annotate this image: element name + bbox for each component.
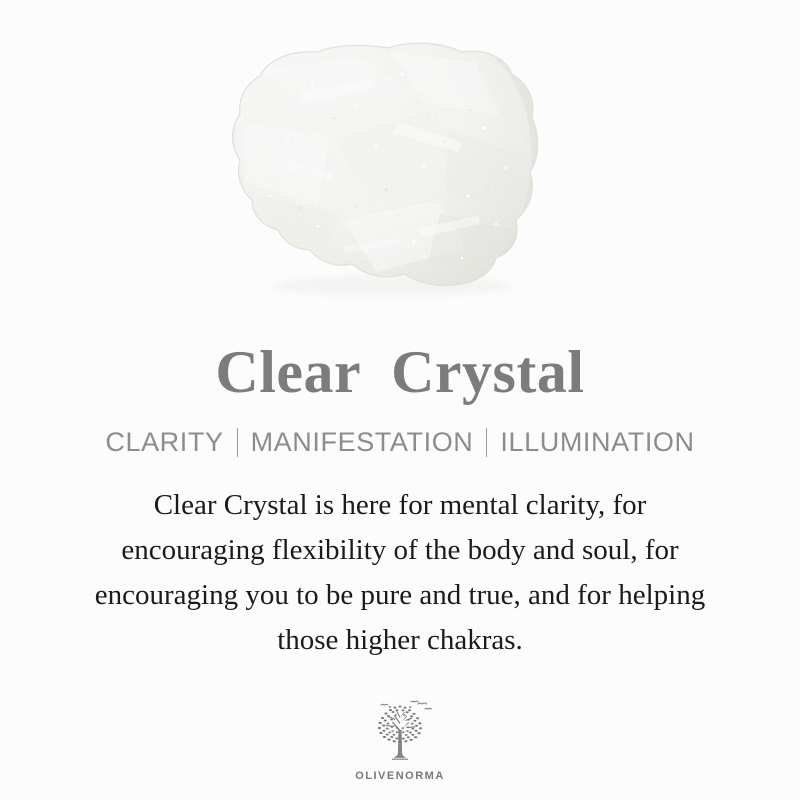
crystal-body: [230, 35, 550, 300]
brand-logo: OLIVENORMA: [0, 700, 800, 782]
description-line: encouraging flexibility of the body and …: [40, 528, 760, 573]
product-image-container: [0, 0, 800, 320]
keyword-clarity: CLARITY: [105, 429, 223, 456]
brand-name: OLIVENORMA: [355, 771, 445, 782]
page-title: Clear Crystal: [215, 342, 584, 402]
keyword-separator-icon: [486, 428, 487, 457]
keyword-manifestation: MANIFESTATION: [251, 429, 474, 456]
description-line: those higher chakras.: [40, 618, 760, 663]
description-line: Clear Crystal is here for mental clarity…: [40, 483, 760, 528]
product-description: Clear Crystal is here for mental clarity…: [40, 483, 760, 663]
clear-crystal-image: [0, 0, 800, 320]
keyword-list: CLARITY MANIFESTATION ILLUMINATION: [105, 428, 694, 457]
product-info-card: Clear Crystal CLARITY MANIFESTATION ILLU…: [0, 0, 800, 800]
keyword-separator-icon: [237, 428, 238, 457]
keyword-illumination: ILLUMINATION: [500, 429, 694, 456]
tree-of-life-icon: [361, 700, 439, 768]
description-line: encouraging you to be pure and true, and…: [40, 573, 760, 618]
